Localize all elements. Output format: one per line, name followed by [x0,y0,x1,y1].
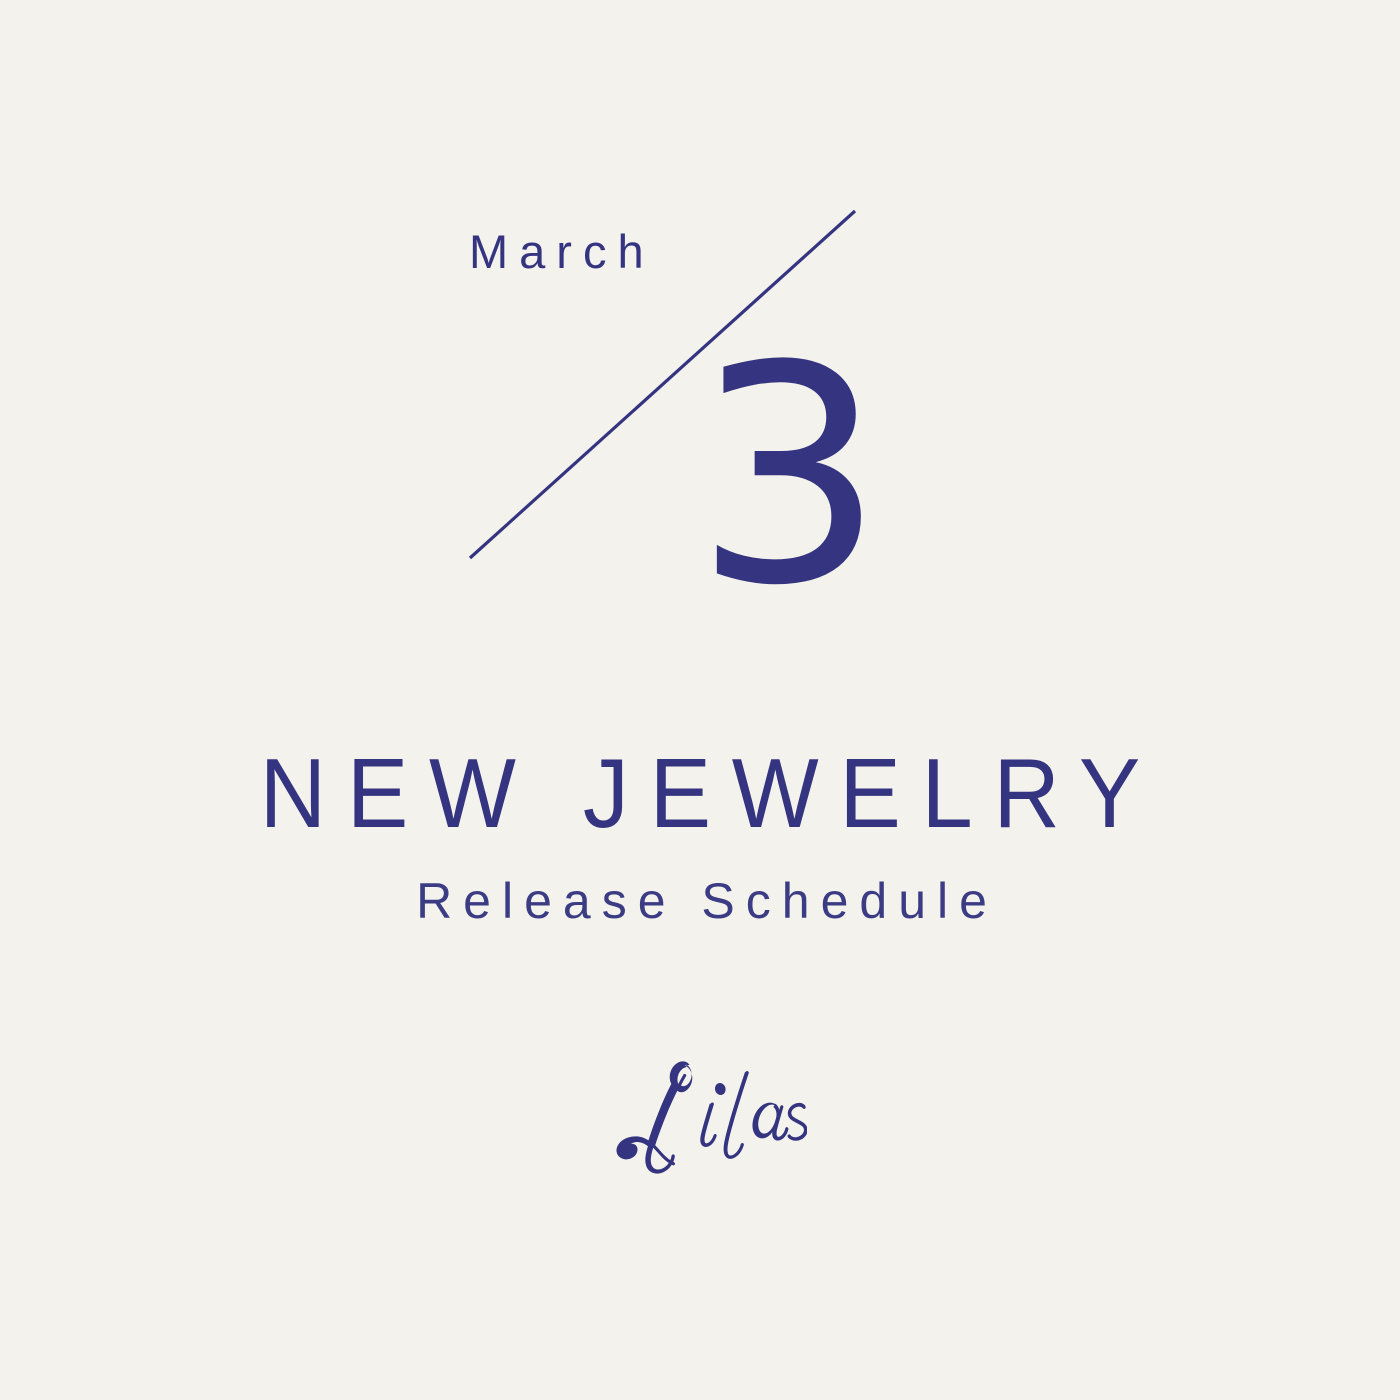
lilas-script-wordmark-icon [593,1060,807,1176]
date-block: March 3 [0,0,1400,660]
page-subtitle: Release Schedule [0,876,1400,926]
brand-logo: Lilas [593,1060,807,1176]
page-title: NEW JEWELRY [42,744,1358,842]
day-number: 3 [694,354,885,600]
poster-canvas: March 3 NEW JEWELRY Release Schedule [0,0,1400,1400]
headline-block: NEW JEWELRY Release Schedule [0,744,1400,926]
brand-block: Lilas [0,1060,1400,1181]
